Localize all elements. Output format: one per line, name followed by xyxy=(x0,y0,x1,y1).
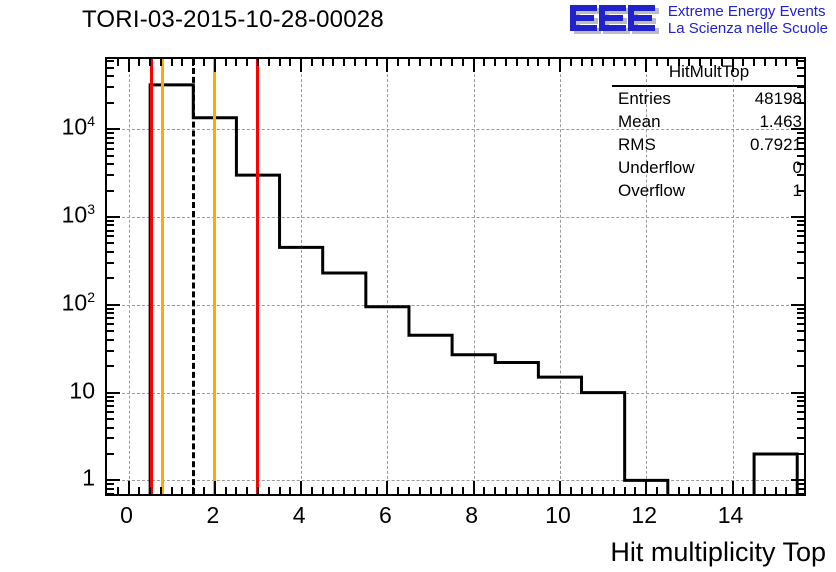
x-tick-minor xyxy=(516,487,518,494)
x-tick-top xyxy=(128,59,130,72)
x-tick-label: 2 xyxy=(206,502,219,529)
y-tick-minor xyxy=(107,86,114,88)
y-tick-major xyxy=(107,479,120,481)
y-tick-minor xyxy=(107,277,114,279)
x-tick-minor xyxy=(581,487,583,494)
stats-row-value: 1 xyxy=(793,181,802,201)
stats-row: Entries48198 xyxy=(612,87,806,110)
y-tick-right xyxy=(791,392,804,394)
y-tick-right xyxy=(797,483,804,485)
x-tick-top xyxy=(354,59,356,66)
x-tick-minor xyxy=(181,487,183,494)
y-tick-major xyxy=(107,128,120,130)
stats-row-key: Entries xyxy=(618,89,671,109)
x-tick-minor xyxy=(311,487,313,494)
stats-row-value: 1.463 xyxy=(759,112,802,132)
x-tick-minor xyxy=(257,487,259,494)
y-tick-right xyxy=(797,339,804,341)
x-tick-minor xyxy=(171,487,173,494)
x-tick-top xyxy=(559,59,561,72)
y-tick-minor xyxy=(107,396,114,398)
x-tick-top xyxy=(246,59,248,66)
y-tick-minor xyxy=(107,317,114,319)
y-tick-minor xyxy=(107,427,114,429)
x-tick-minor xyxy=(537,487,539,494)
x-tick-top xyxy=(117,59,119,66)
stats-rows: Entries48198Mean1.463RMS0.7921Underflow0… xyxy=(612,87,806,202)
x-tick-minor xyxy=(548,487,550,494)
x-tick-minor xyxy=(160,487,162,494)
stats-row-key: Mean xyxy=(618,112,661,132)
x-tick-minor xyxy=(408,487,410,494)
y-tick-minor xyxy=(107,312,114,314)
y-tick-right xyxy=(797,365,804,367)
x-axis-title: Hit multiplicity Top xyxy=(610,537,826,568)
x-tick-minor xyxy=(376,487,378,494)
x-tick-minor xyxy=(753,487,755,494)
x-tick-major xyxy=(300,481,302,494)
x-tick-label: 10 xyxy=(545,502,571,529)
y-tick-minor xyxy=(107,308,114,310)
y-tick-minor xyxy=(107,251,114,253)
y-tick-minor xyxy=(107,330,114,332)
x-tick-top xyxy=(214,59,216,72)
x-tick-label: 4 xyxy=(293,502,306,529)
y-tick-label: 104 xyxy=(10,114,95,141)
x-tick-top xyxy=(268,59,270,66)
x-tick-minor xyxy=(117,487,119,494)
x-tick-top xyxy=(581,59,583,66)
x-tick-minor xyxy=(203,487,205,494)
x-tick-top xyxy=(570,59,572,66)
x-tick-minor xyxy=(322,487,324,494)
x-tick-top xyxy=(430,59,432,66)
x-tick-minor xyxy=(246,487,248,494)
x-tick-top xyxy=(322,59,324,66)
x-tick-minor xyxy=(688,487,690,494)
x-tick-top xyxy=(548,59,550,66)
marker-line-red-left xyxy=(150,59,153,494)
y-tick-label: 10 xyxy=(10,377,95,404)
y-tick-right xyxy=(791,479,804,481)
stats-row: RMS0.7921 xyxy=(612,133,806,156)
x-tick-minor xyxy=(483,487,485,494)
x-tick-top xyxy=(591,59,593,66)
y-tick-right xyxy=(797,317,804,319)
x-tick-minor xyxy=(268,487,270,494)
y-tick-minor xyxy=(107,174,114,176)
x-tick-minor xyxy=(785,487,787,494)
x-tick-top xyxy=(192,59,194,66)
x-tick-minor xyxy=(225,487,227,494)
x-tick-label: 6 xyxy=(379,502,392,529)
y-tick-right xyxy=(797,488,804,490)
x-tick-minor xyxy=(149,487,151,494)
y-tick-right xyxy=(791,216,804,218)
y-tick-minor xyxy=(107,405,114,407)
x-tick-top xyxy=(332,59,334,66)
eee-logo-text: Extreme Energy Events La Scienza nelle S… xyxy=(668,2,828,38)
x-tick-top xyxy=(505,59,507,66)
y-tick-major xyxy=(107,304,120,306)
page-title: TORI-03-2015-10-28-00028 xyxy=(82,6,384,34)
y-tick-right xyxy=(797,427,804,429)
y-tick-right xyxy=(791,304,804,306)
x-tick-major xyxy=(732,481,734,494)
x-tick-minor xyxy=(699,487,701,494)
x-tick-top xyxy=(181,59,183,66)
x-tick-minor xyxy=(764,487,766,494)
stats-row: Mean1.463 xyxy=(612,110,806,133)
x-tick-minor xyxy=(591,487,593,494)
y-tick-right xyxy=(797,308,804,310)
x-tick-major xyxy=(559,481,561,494)
stats-row-value: 0.7921 xyxy=(750,135,802,155)
x-tick-minor xyxy=(332,487,334,494)
y-tick-minor xyxy=(107,400,114,402)
x-tick-minor xyxy=(289,487,291,494)
y-tick-minor xyxy=(107,453,114,455)
y-tick-minor xyxy=(107,493,114,495)
stats-row-value: 48198 xyxy=(755,89,802,109)
x-tick-top xyxy=(311,59,313,66)
stats-row: Overflow1 xyxy=(612,179,806,202)
x-tick-top xyxy=(257,59,259,66)
x-tick-top xyxy=(462,59,464,66)
y-tick-right xyxy=(797,400,804,402)
y-tick-minor xyxy=(107,75,114,77)
x-tick-minor xyxy=(430,487,432,494)
stats-row-key: Underflow xyxy=(618,158,695,178)
x-tick-top xyxy=(343,59,345,66)
stats-box: HitMultTop Entries48198Mean1.463RMS0.792… xyxy=(612,60,806,202)
x-tick-minor xyxy=(354,487,356,494)
y-tick-minor xyxy=(107,190,114,192)
marker-line-black-mean xyxy=(192,59,195,494)
y-tick-minor xyxy=(107,224,114,226)
y-tick-minor xyxy=(107,67,114,69)
x-tick-top xyxy=(138,59,140,66)
y-tick-right xyxy=(797,277,804,279)
x-tick-minor xyxy=(440,487,442,494)
y-tick-label: 103 xyxy=(10,201,95,228)
x-tick-top xyxy=(537,59,539,66)
y-tick-minor xyxy=(107,155,114,157)
x-tick-minor xyxy=(678,487,680,494)
x-tick-minor xyxy=(602,487,604,494)
root-canvas: TORI-03-2015-10-28-00028 xyxy=(0,0,836,572)
x-tick-top xyxy=(419,59,421,66)
x-tick-top xyxy=(494,59,496,66)
x-tick-label: 8 xyxy=(465,502,478,529)
y-tick-right xyxy=(797,323,804,325)
marker-line-orange-left xyxy=(161,59,164,494)
x-tick-minor xyxy=(570,487,572,494)
y-tick-right xyxy=(797,242,804,244)
y-tick-minor xyxy=(107,132,114,134)
x-tick-top xyxy=(397,59,399,66)
marker-line-orange-right xyxy=(213,59,216,494)
x-tick-top xyxy=(408,59,410,66)
y-tick-minor xyxy=(107,60,114,62)
x-tick-top xyxy=(365,59,367,66)
x-tick-minor xyxy=(775,487,777,494)
y-tick-minor xyxy=(107,137,114,139)
y-tick-minor xyxy=(107,220,114,222)
x-tick-top xyxy=(289,59,291,66)
y-tick-right xyxy=(797,312,804,314)
x-tick-minor xyxy=(721,487,723,494)
x-tick-top xyxy=(225,59,227,66)
y-tick-right xyxy=(797,251,804,253)
y-tick-minor xyxy=(107,418,114,420)
y-tick-major xyxy=(107,216,120,218)
stats-row-key: Overflow xyxy=(618,181,685,201)
x-tick-minor xyxy=(192,487,194,494)
y-tick-minor xyxy=(107,230,114,232)
x-tick-minor xyxy=(634,487,636,494)
x-tick-label: 12 xyxy=(631,502,657,529)
x-tick-minor xyxy=(613,487,615,494)
x-tick-top xyxy=(451,59,453,66)
stats-row-value: 0 xyxy=(793,158,802,178)
eee-logo-line1: Extreme Energy Events xyxy=(668,3,828,20)
y-tick-right xyxy=(797,220,804,222)
x-tick-top xyxy=(440,59,442,66)
x-tick-top xyxy=(279,59,281,66)
x-tick-top xyxy=(203,59,205,66)
y-tick-right xyxy=(797,230,804,232)
y-tick-label: 1 xyxy=(10,465,95,492)
x-tick-minor xyxy=(279,487,281,494)
y-tick-right xyxy=(797,418,804,420)
y-tick-right xyxy=(797,235,804,237)
y-tick-right xyxy=(797,411,804,413)
y-tick-minor xyxy=(107,411,114,413)
y-tick-minor xyxy=(107,163,114,165)
x-tick-major xyxy=(214,481,216,494)
y-tick-minor xyxy=(107,142,114,144)
x-tick-top xyxy=(300,59,302,72)
x-tick-major xyxy=(128,481,130,494)
y-tick-minor xyxy=(107,262,114,264)
y-tick-minor xyxy=(107,242,114,244)
stats-title: HitMultTop xyxy=(612,60,806,87)
y-tick-label: 102 xyxy=(10,289,95,316)
x-tick-minor xyxy=(742,487,744,494)
y-tick-minor xyxy=(107,235,114,237)
y-tick-minor xyxy=(107,148,114,150)
x-tick-top xyxy=(527,59,529,66)
y-tick-right xyxy=(797,453,804,455)
x-tick-minor xyxy=(505,487,507,494)
x-tick-minor xyxy=(451,487,453,494)
y-tick-right xyxy=(797,396,804,398)
x-tick-minor xyxy=(462,487,464,494)
x-tick-label: 0 xyxy=(120,502,133,529)
x-tick-minor xyxy=(656,487,658,494)
eee-logo-svg xyxy=(568,2,662,40)
x-tick-minor xyxy=(667,487,669,494)
x-tick-minor xyxy=(419,487,421,494)
x-tick-minor xyxy=(235,487,237,494)
y-tick-right xyxy=(797,262,804,264)
eee-logo: Extreme Energy Events La Scienza nelle S… xyxy=(568,2,828,40)
x-tick-top xyxy=(516,59,518,66)
y-tick-minor xyxy=(107,437,114,439)
y-tick-minor xyxy=(107,350,114,352)
x-tick-top xyxy=(149,59,151,66)
x-tick-minor xyxy=(527,487,529,494)
x-tick-major xyxy=(386,481,388,494)
y-tick-minor xyxy=(107,488,114,490)
y-tick-major xyxy=(107,392,120,394)
x-tick-top xyxy=(473,59,475,72)
y-tick-minor xyxy=(107,102,114,104)
x-tick-minor xyxy=(397,487,399,494)
y-tick-minor xyxy=(107,365,114,367)
y-tick-minor xyxy=(107,483,114,485)
x-tick-minor xyxy=(494,487,496,494)
x-tick-minor xyxy=(343,487,345,494)
x-tick-major xyxy=(473,481,475,494)
x-tick-major xyxy=(645,481,647,494)
x-tick-minor xyxy=(138,487,140,494)
x-tick-top xyxy=(160,59,162,66)
y-tick-right xyxy=(797,437,804,439)
y-tick-minor xyxy=(107,323,114,325)
eee-logo-mark xyxy=(568,2,662,40)
marker-line-red-right xyxy=(256,59,259,494)
x-tick-minor xyxy=(710,487,712,494)
y-tick-right xyxy=(797,405,804,407)
y-tick-right xyxy=(797,350,804,352)
x-tick-top xyxy=(376,59,378,66)
x-tick-minor xyxy=(624,487,626,494)
x-tick-label: 14 xyxy=(718,502,744,529)
stats-row: Underflow0 xyxy=(612,156,806,179)
eee-logo-line2: La Scienza nelle Scuole xyxy=(668,20,828,37)
x-tick-top xyxy=(386,59,388,72)
x-tick-top xyxy=(171,59,173,66)
x-tick-minor xyxy=(365,487,367,494)
x-tick-top xyxy=(235,59,237,66)
y-tick-minor xyxy=(107,339,114,341)
x-tick-top xyxy=(602,59,604,66)
x-tick-top xyxy=(483,59,485,66)
y-tick-right xyxy=(797,493,804,495)
stats-row-key: RMS xyxy=(618,135,656,155)
y-tick-right xyxy=(797,330,804,332)
y-tick-right xyxy=(797,224,804,226)
